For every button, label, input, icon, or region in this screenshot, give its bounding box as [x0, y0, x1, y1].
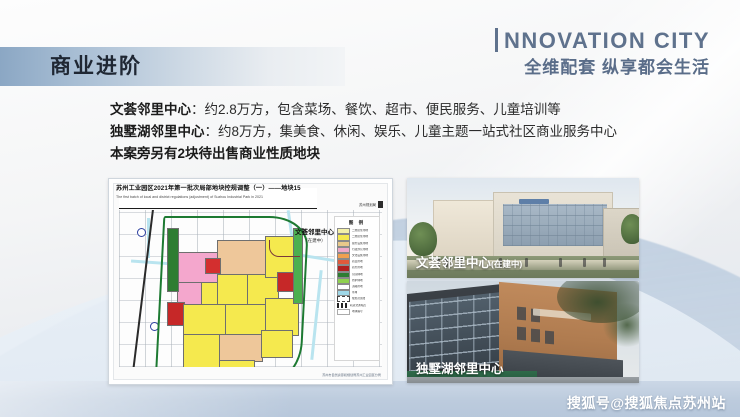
description-line-1-detail: ：约2.8万方，包含菜场、餐饮、超市、便民服务、儿童培训等: [191, 102, 561, 117]
map-annotation-label: 文荟邻里中心: [295, 229, 334, 236]
legend-item: 规划范围线: [337, 297, 377, 302]
brand-tagline: 全维配套 纵享都会生活: [495, 57, 710, 79]
parcel-yellow-b: [217, 274, 249, 306]
map-credit: 苏州市自然资源和规划局苏州工业园区分局: [322, 372, 381, 377]
photo-person: [603, 258, 606, 267]
photo-window: [517, 307, 526, 321]
legend-item: 轨道交通站点: [337, 303, 377, 308]
zoning-map-panel: 苏州工业园区2021年第一批次局部地块控规调整（一）——地块15 The fir…: [108, 178, 393, 385]
legend-label: 服务设施用地: [352, 242, 368, 246]
legend-item: 商务用地: [337, 266, 377, 271]
photo-window: [531, 329, 540, 343]
legend-item: 公园绿地: [337, 272, 377, 277]
brand-logo: NNOVATION CITY 全维配套 纵享都会生活: [495, 28, 710, 79]
photo-person: [559, 258, 562, 267]
zoning-map-inner: 苏州工业园区2021年第一批次局部地块控规调整（一）——地块15 The fir…: [113, 183, 388, 380]
legend-label: 商务用地: [352, 266, 363, 270]
photo-caption-bottom: 独墅湖邻里中心: [416, 361, 504, 377]
photo-caption-top-sub: (在建中): [491, 259, 522, 269]
map-legend-title: 图 例: [337, 220, 377, 226]
legend-swatch: [337, 296, 350, 302]
legend-item: 防护绿地: [337, 279, 377, 284]
photo-ground: [407, 377, 639, 383]
description-line-2-detail: ：约8万方，集美食、休闲、娱乐、儿童主题一站式社区商业服务中心: [205, 124, 618, 139]
legend-item: 道路用地: [337, 285, 377, 290]
legend-label: 道路用地: [352, 285, 363, 289]
transit-station-icon-2: [150, 322, 159, 331]
photo-caption-top: 文荟邻里中心(在建中): [416, 255, 522, 272]
map-agency-logo: 苏州规划局: [359, 201, 383, 208]
description-line-1-term: 文荟邻里中心: [110, 102, 191, 117]
map-drawing-area: 文荟邻里中心 （在建中） 图 例 二类居住用地 二类居住用地: [119, 210, 382, 367]
legend-label: 水域: [352, 291, 357, 295]
source-watermark: 搜狐号@搜狐焦点苏州站: [567, 394, 726, 412]
map-agency-name: 苏州规划局: [359, 202, 376, 207]
photo-wenhui-neighborhood-center: 文荟邻里中心(在建中): [407, 178, 639, 278]
description-line-2-term: 独墅湖邻里中心: [110, 124, 205, 139]
photo-window: [545, 331, 554, 345]
legend-label: 公园绿地: [352, 273, 363, 277]
legend-item: 水域: [337, 291, 377, 296]
legend-item: 二类居住用地: [337, 229, 377, 234]
map-agency-mark-icon: [378, 201, 383, 208]
parcel-yellow-i: [261, 330, 293, 358]
map-title-english: The first batch of local and district re…: [116, 194, 263, 200]
legend-item: 服务设施用地: [337, 241, 377, 246]
legend-item: 商业用地: [337, 260, 377, 265]
slide-canvas: 商业进阶 NNOVATION CITY 全维配套 纵享都会生活 文荟邻里中心：约…: [0, 0, 740, 417]
legend-item: 二类居住用地: [337, 235, 377, 240]
photo-caption-top-main: 文荟邻里中心: [416, 256, 491, 270]
photo-glass-facade: [503, 204, 607, 246]
parcel-yellow-e: [183, 304, 227, 336]
brand-initial-icon: [495, 28, 498, 52]
transit-station-icon-1: [137, 228, 146, 237]
description-line-3: 本案旁另有2块待出售商业性质地块: [110, 143, 710, 165]
brand-name-text: NNOVATION CITY: [504, 28, 710, 54]
parcel-green-strip-left: [167, 228, 179, 292]
brand-name: NNOVATION CITY: [495, 28, 710, 54]
photo-building-signage: [519, 199, 549, 204]
description-line-1: 文荟邻里中心：约2.8万方，包含菜场、餐饮、超市、便民服务、儿童培训等: [110, 99, 710, 121]
photo-tree-left: [409, 222, 437, 256]
photo-window: [517, 327, 526, 341]
legend-swatch: [337, 303, 348, 307]
parcel-red-2: [205, 258, 221, 274]
map-annotation-sublabel: （在建中）: [295, 237, 334, 244]
map-legend: 图 例 二类居住用地 二类居住用地 服务设施用地: [334, 216, 380, 361]
legend-label: 行政办公用地: [352, 248, 368, 252]
description-line-3-term: 本案旁另有2块待出售商业性质地块: [110, 146, 320, 161]
legend-item: 地块编号: [337, 309, 377, 314]
map-annotation: 文荟邻里中心 （在建中）: [295, 228, 334, 244]
photo-person: [525, 258, 528, 267]
legend-label: 防护绿地: [352, 279, 363, 283]
legend-label: 二类居住用地: [352, 235, 368, 239]
legend-label: 地块编号: [352, 310, 363, 314]
photo-building-left: [433, 200, 501, 260]
photo-caption-bottom-main: 独墅湖邻里中心: [416, 362, 504, 376]
parcel-yellow-j: [219, 360, 255, 367]
legend-label: 二类居住用地: [352, 229, 368, 233]
photo-tree-right: [621, 214, 639, 244]
photo-person: [583, 258, 586, 267]
legend-item: 文化设施用地: [337, 254, 377, 259]
legend-label: 规划范围线: [352, 297, 365, 301]
legend-swatch: [337, 309, 350, 315]
parcel-tan-1: [217, 240, 267, 276]
parcel-yellow-h: [183, 334, 221, 367]
page-title: 商业进阶: [50, 52, 142, 82]
legend-label: 文化设施用地: [352, 254, 368, 258]
legend-item: 行政办公用地: [337, 248, 377, 253]
photo-dushuhu-neighborhood-center: 独墅湖邻里中心: [407, 281, 639, 383]
legend-label: 商业用地: [352, 260, 363, 264]
photo-glass-facade: [409, 292, 501, 372]
legend-label: 轨道交通站点: [350, 304, 366, 308]
description-line-2: 独墅湖邻里中心：约8万方，集美食、休闲、娱乐、儿童主题一站式社区商业服务中心: [110, 121, 710, 143]
parcel-tan-2: [219, 334, 263, 362]
map-title-chinese: 苏州工业园区2021年第一批次局部地块控规调整（一）——地块15: [116, 184, 301, 193]
description-block: 文荟邻里中心：约2.8万方，包含菜场、餐饮、超市、便民服务、儿童培训等 独墅湖邻…: [110, 99, 710, 165]
